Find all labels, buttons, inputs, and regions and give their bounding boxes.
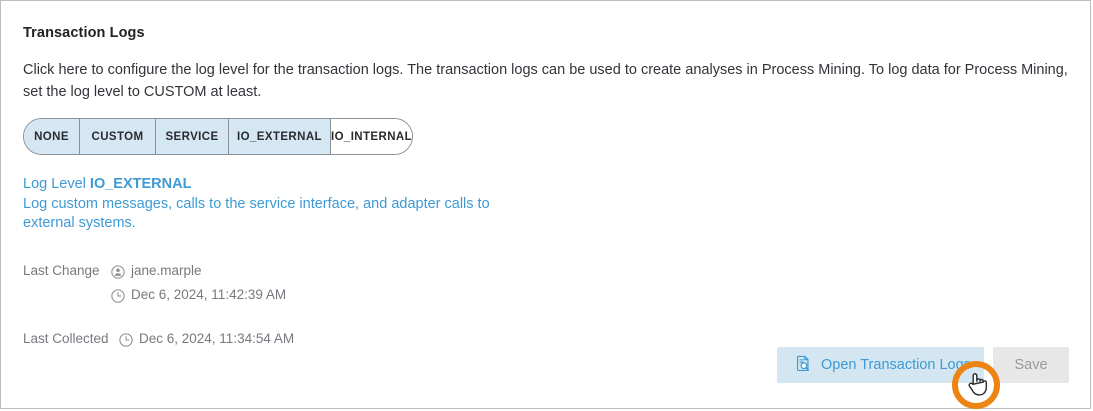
panel-description: Click here to configure the log level fo…: [23, 59, 1069, 103]
page-title: Transaction Logs: [23, 25, 145, 41]
last-collected-time: Dec 6, 2024, 11:34:54 AM: [139, 331, 294, 346]
last-change-label: Last Change: [23, 263, 111, 278]
last-change-user: jane.marple: [131, 263, 202, 278]
log-level-heading-prefix: Log Level: [23, 176, 90, 192]
document-search-icon: [795, 355, 812, 375]
log-level-info: Log Level IO_EXTERNAL Log custom message…: [23, 175, 493, 234]
last-change-user-row: Last Change jane.marple: [23, 263, 286, 285]
open-transaction-logs-label: Open Transaction Logs: [821, 357, 971, 373]
log-level-body: Log custom messages, calls to the servic…: [23, 195, 493, 234]
segment-none[interactable]: NONE: [24, 119, 80, 154]
clock-icon: [111, 287, 131, 303]
last-change-time: Dec 6, 2024, 11:42:39 AM: [131, 287, 286, 302]
last-collected-label: Last Collected: [23, 331, 119, 346]
segment-io-external[interactable]: IO_EXTERNAL: [229, 119, 331, 154]
save-button[interactable]: Save: [993, 347, 1069, 383]
log-level-heading-value: IO_EXTERNAL: [90, 176, 192, 192]
last-change-block: Last Change jane.marple Dec 6, 2024, 11:…: [23, 263, 286, 309]
open-transaction-logs-button[interactable]: Open Transaction Logs: [777, 347, 984, 383]
segment-custom[interactable]: CUSTOM: [80, 119, 156, 154]
log-level-heading: Log Level IO_EXTERNAL: [23, 175, 493, 195]
segment-service[interactable]: SERVICE: [156, 119, 229, 154]
last-collected-row: Last Collected Dec 6, 2024, 11:34:54 AM: [23, 331, 294, 347]
log-level-segmented-control[interactable]: NONE CUSTOM SERVICE IO_EXTERNAL IO_INTER…: [23, 118, 413, 155]
segment-io-internal[interactable]: IO_INTERNAL: [331, 119, 412, 154]
last-change-time-row: Dec 6, 2024, 11:42:39 AM: [23, 287, 286, 309]
transaction-logs-card: Transaction Logs Click here to configure…: [0, 0, 1091, 409]
user-icon: [111, 263, 131, 279]
clock-icon: [119, 331, 139, 347]
